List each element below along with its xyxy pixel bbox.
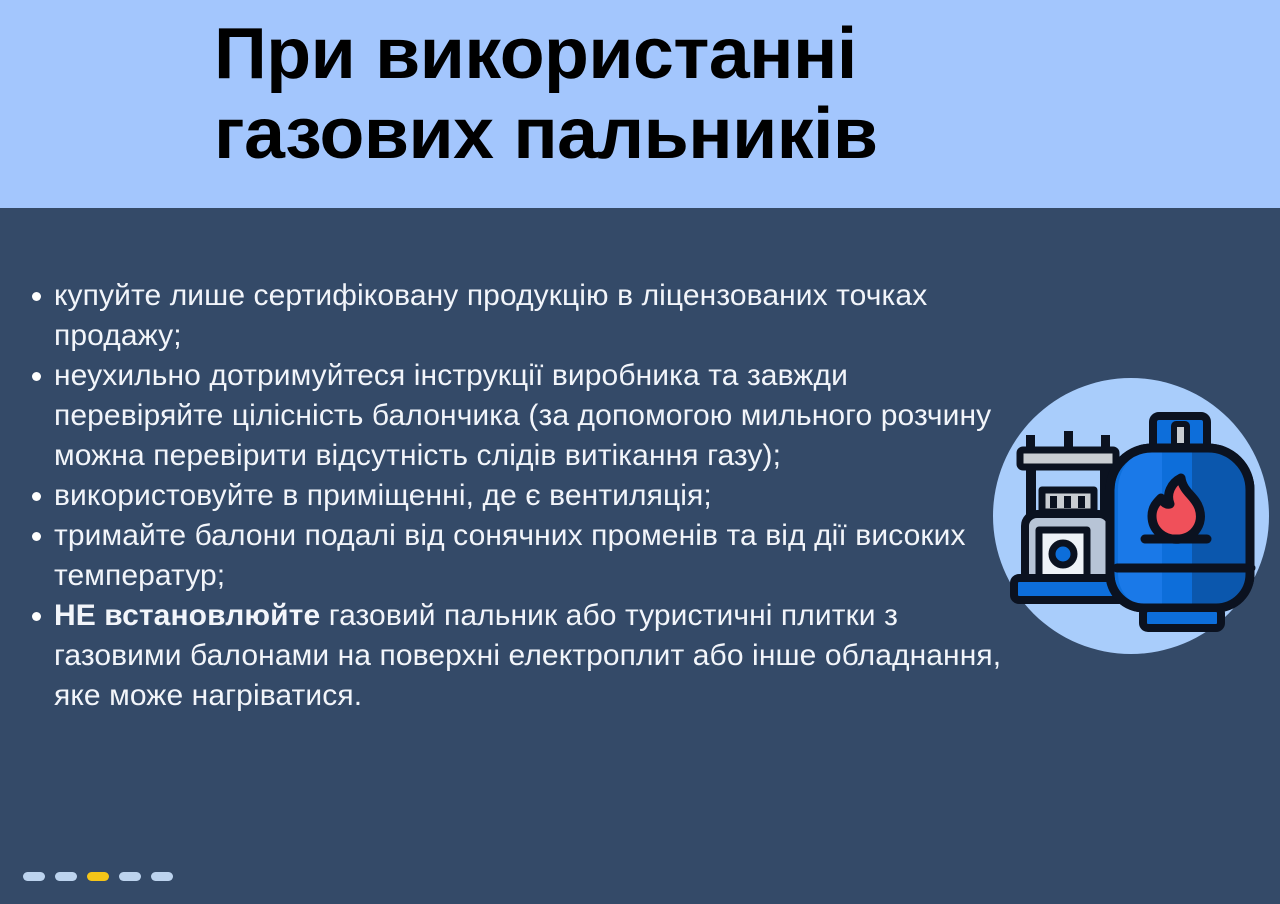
bullet-certified-products: купуйте лише сертифіковану продукцію в л…: [22, 276, 1002, 356]
progress-dash-slide-4[interactable]: [119, 872, 141, 881]
bullet-away-from-sun: тримайте балони подалі від сонячних пром…: [22, 516, 1002, 596]
header-band: При використанні газових пальників: [0, 0, 1280, 208]
bullet-do-not-install-emphasis: НЕ встановлюйте: [54, 599, 320, 632]
progress-dash-slide-1[interactable]: [23, 872, 45, 881]
gas-equipment-icon: [993, 378, 1269, 654]
slide-progress-dashes[interactable]: [23, 872, 173, 881]
bullet-do-not-install: НЕ встановлюйте газовий пальник або тури…: [22, 596, 1002, 716]
page-title: При використанні газових пальників: [214, 14, 1234, 174]
progress-dash-slide-2[interactable]: [55, 872, 77, 881]
safety-tips-list: купуйте лише сертифіковану продукцію в л…: [22, 276, 1002, 716]
bullet-follow-instructions: неухильно дотримуйтеся інструкції виробн…: [22, 356, 1002, 476]
bullet-ventilation: використовуйте в приміщенні, де є вентил…: [22, 476, 1002, 516]
progress-dash-slide-5[interactable]: [151, 872, 173, 881]
infographic-slide: При використанні газових пальників купуй…: [0, 0, 1280, 904]
progress-dash-slide-3[interactable]: [87, 872, 109, 881]
gas-cylinder-and-camping-stove-illustration: [993, 378, 1269, 654]
